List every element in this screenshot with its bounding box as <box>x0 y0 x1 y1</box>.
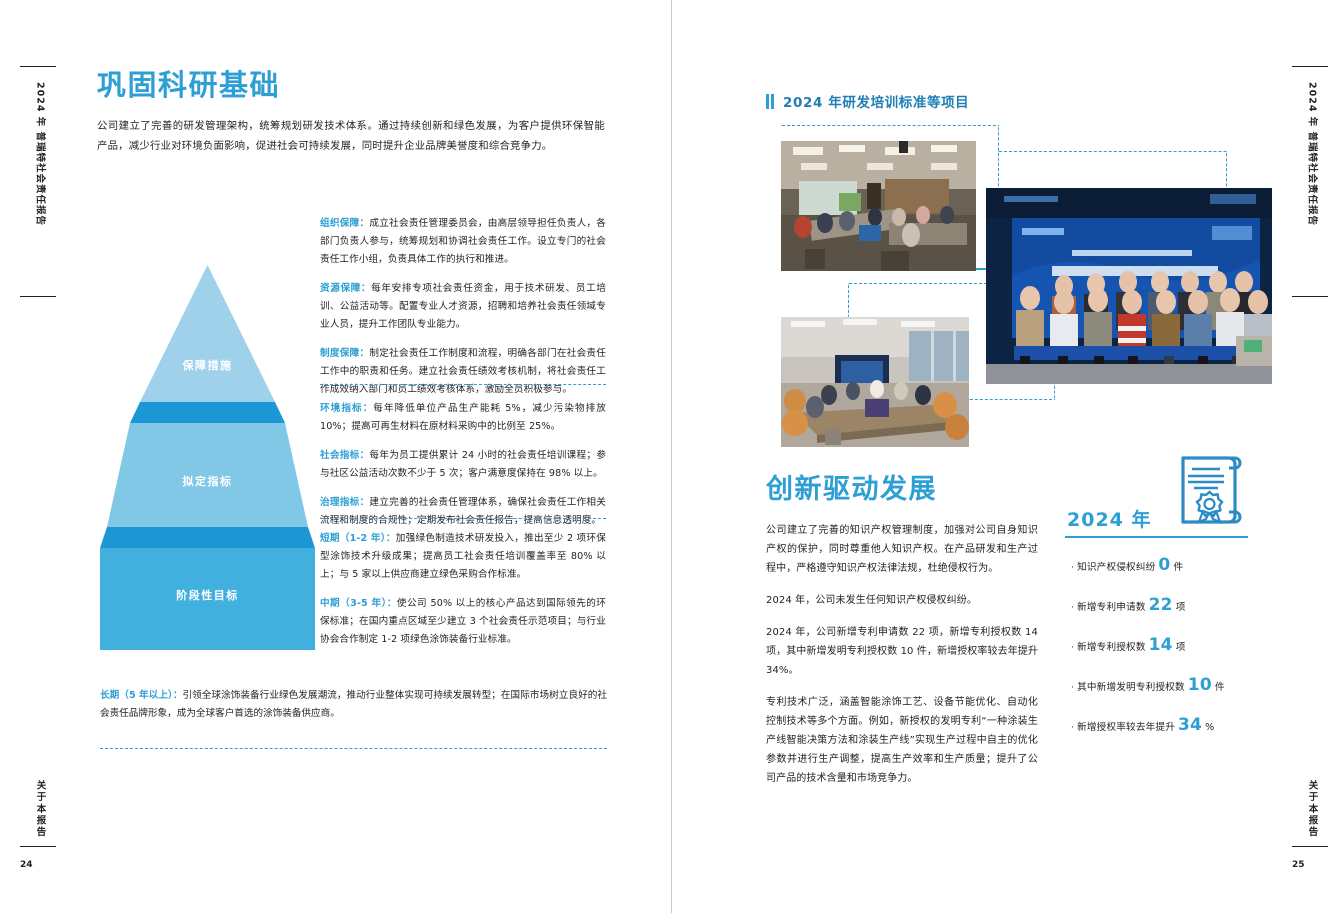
bullet-icon: · <box>1071 723 1074 733</box>
stats-unit: 项 <box>1176 599 1186 613</box>
connector-line-upper-right-vertical <box>1226 151 1228 188</box>
stats-year-label: 2024 年 <box>1067 505 1152 532</box>
safeguard-item-organization: 组织保障：成立社会责任管理委员会，由高层领导担任负责人，各部门负责人参与，统筹规… <box>320 215 606 269</box>
innovation-section-body: 公司建立了完善的知识产权管理制度，加强对公司自身知识产权的保护，同时尊重他人知识… <box>766 521 1038 788</box>
safeguard-measures-block: 组织保障：成立社会责任管理委员会，由高层领导担任负责人，各部门负责人参与，统筹规… <box>320 215 606 399</box>
connector-line-top <box>781 125 999 127</box>
pyramid-tier-3-label: 阶段性目标 <box>100 587 315 603</box>
bullet-icon: · <box>1071 563 1074 573</box>
indicator-item-environment: 环境指标：每年降低单位产品生产能耗 5%，减少污染物排放 10%；提高可再生材料… <box>320 400 606 436</box>
bullet-icon: · <box>1071 643 1074 653</box>
left-page-title: 巩固科研基础 <box>97 62 280 104</box>
rail-section-label-left: 关于本报告 <box>35 780 45 839</box>
double-bar-icon <box>766 94 775 109</box>
item-tag: 中期（3-5 年）： <box>320 598 397 609</box>
connector-line-bottom <box>969 399 1055 401</box>
item-tag: 社会指标： <box>320 450 369 461</box>
strategy-pyramid-diagram: 保障措施 拟定指标 阶段性目标 <box>100 265 315 665</box>
item-tag: 环境指标： <box>320 403 373 414</box>
goal-item-mid-term: 中期（3-5 年）：使公司 50% 以上的核心产品达到国际领先的环保标准；在国内… <box>320 595 606 649</box>
item-tag: 组织保障： <box>320 218 369 229</box>
connector-line-middle-vertical <box>848 283 850 317</box>
stats-unit: % <box>1205 722 1214 733</box>
stats-unit: 项 <box>1176 639 1186 653</box>
stats-label: 新增专利授权数 <box>1077 639 1146 653</box>
group-photo-conference <box>986 188 1272 384</box>
divider-dashed-2 <box>320 518 606 519</box>
phased-goals-block: 短期（1-2 年）：加强绿色制造技术研发投入，推出至少 2 项环保型涂饰技术升级… <box>320 530 606 649</box>
page-number-right: 25 <box>1292 860 1305 870</box>
stats-row: · 新增专利申请数 22 项 <box>1071 597 1276 614</box>
rail-report-title-right: 2024 年 普瑞特社会责任报告 <box>1307 82 1317 226</box>
divider-dashed-3 <box>100 748 607 749</box>
bullet-icon: · <box>1071 683 1074 693</box>
stats-label: 知识产权侵权纠纷 <box>1077 559 1155 573</box>
bullet-icon: · <box>1071 603 1074 613</box>
innovation-paragraph-3: 2024 年，公司新增专利申请数 22 项，新增专利授权数 14 项，其中新增发… <box>766 623 1038 680</box>
stats-unit: 件 <box>1215 679 1225 693</box>
stats-value: 14 <box>1149 637 1173 654</box>
stats-value: 10 <box>1188 677 1212 694</box>
stats-label: 新增专利申请数 <box>1077 599 1146 613</box>
long-term-goal-block: 长期（5 年以上）：引领全球涂饰装备行业绿色发展潮流，推动行业整体实现可持续发展… <box>100 687 607 723</box>
pyramid-tier-2-label: 拟定指标 <box>100 473 315 489</box>
item-tag: 资源保障： <box>320 283 371 294</box>
goal-item-short-term: 短期（1-2 年）：加强绿色制造技术研发投入，推出至少 2 项环保型涂饰技术升级… <box>320 530 606 584</box>
indicator-item-governance: 治理指标：建立完善的社会责任管理体系，确保社会责任工作相关流程和制度的合规性；定… <box>320 494 606 530</box>
indicator-item-social: 社会指标：每年为员工提供累计 24 小时的社会责任培训课程；参与社区公益活动次数… <box>320 447 606 483</box>
innovation-section-title: 创新驱动发展 <box>766 467 937 506</box>
innovation-paragraph-1: 公司建立了完善的知识产权管理制度，加强对公司自身知识产权的保护，同时尊重他人知识… <box>766 521 1038 578</box>
section-heading-text: 2024 年研发培训标准等项目 <box>783 91 969 111</box>
rail-rule-footer <box>20 846 56 847</box>
stats-list: · 知识产权侵权纠纷 0 件 · 新增专利申请数 22 项 · 新增专利授权数 … <box>1071 557 1276 734</box>
item-tag: 长期（5 年以上）： <box>100 690 182 701</box>
innovation-paragraph-2: 2024 年，公司未发生任何知识产权侵权纠纷。 <box>766 591 1038 610</box>
left-page-intro: 公司建立了完善的研发管理架构，统筹规划研发技术体系。通过持续创新和绿色发展，为客… <box>97 116 605 156</box>
rail-report-title-left: 2024 年 普瑞特社会责任报告 <box>35 82 45 226</box>
item-tag: 治理指标： <box>320 497 369 508</box>
safeguard-item-system: 制度保障：制定社会责任工作制度和流程，明确各部门在社会责任工作中的职责和任务。建… <box>320 345 606 399</box>
rail-rule-footer <box>1292 846 1328 847</box>
page-number-left: 24 <box>20 860 33 870</box>
rail-rule-bottom <box>1292 296 1328 297</box>
training-seminar-photo <box>781 141 976 271</box>
target-indicators-block: 环境指标：每年降低单位产品生产能耗 5%，减少污染物排放 10%；提高可再生材料… <box>320 400 606 530</box>
certificate-icon <box>1173 452 1245 528</box>
safeguard-item-resource: 资源保障：每年安排专项社会责任资金，用于技术研发、员工培训、公益活动等。配置专业… <box>320 280 606 334</box>
stats-row: · 新增授权率较去年提升 34 % <box>1071 717 1276 734</box>
stats-row: · 知识产权侵权纠纷 0 件 <box>1071 557 1276 574</box>
connector-line-middle <box>848 283 1000 285</box>
stats-row: · 新增专利授权数 14 项 <box>1071 637 1276 654</box>
meeting-room-photo <box>781 317 969 447</box>
rail-rule-top <box>20 66 56 67</box>
connector-line-top-vertical <box>998 125 1000 188</box>
rail-section-label-right: 关于本报告 <box>1307 780 1317 839</box>
stats-label: 其中新增发明专利授权数 <box>1077 679 1185 693</box>
stats-row: · 其中新增发明专利授权数 10 件 <box>1071 677 1276 694</box>
connector-line-upper-right <box>998 151 1227 153</box>
stats-value: 22 <box>1149 597 1173 614</box>
stats-label: 新增授权率较去年提升 <box>1077 719 1175 733</box>
stats-value: 0 <box>1158 557 1170 574</box>
right-page-section-heading: 2024 年研发培训标准等项目 <box>766 91 969 111</box>
innovation-paragraph-4: 专利技术广泛，涵盖智能涂饰工艺、设备节能优化、自动化控制技术等多个方面。例如，新… <box>766 693 1038 788</box>
stats-unit: 件 <box>1173 559 1183 573</box>
rail-rule-bottom <box>20 296 56 297</box>
pyramid-tier-1-label: 保障措施 <box>100 357 315 373</box>
item-tag: 制度保障： <box>320 348 369 359</box>
document-spread: 2024 年 普瑞特社会责任报告 关于本报告 24 巩固科研基础 公司建立了完善… <box>0 0 1343 913</box>
pyramid-shapes <box>100 265 315 665</box>
rail-rule-top <box>1292 66 1328 67</box>
item-tag: 短期（1-2 年）： <box>320 533 396 544</box>
goal-item-long-term: 长期（5 年以上）：引领全球涂饰装备行业绿色发展潮流，推动行业整体实现可持续发展… <box>100 687 607 723</box>
divider-dashed-1 <box>320 384 606 385</box>
stats-value: 34 <box>1178 717 1202 734</box>
spread-gutter-divider <box>671 0 672 913</box>
stats-divider <box>1065 536 1248 538</box>
connector-line-bottom-vertical <box>1054 384 1056 400</box>
